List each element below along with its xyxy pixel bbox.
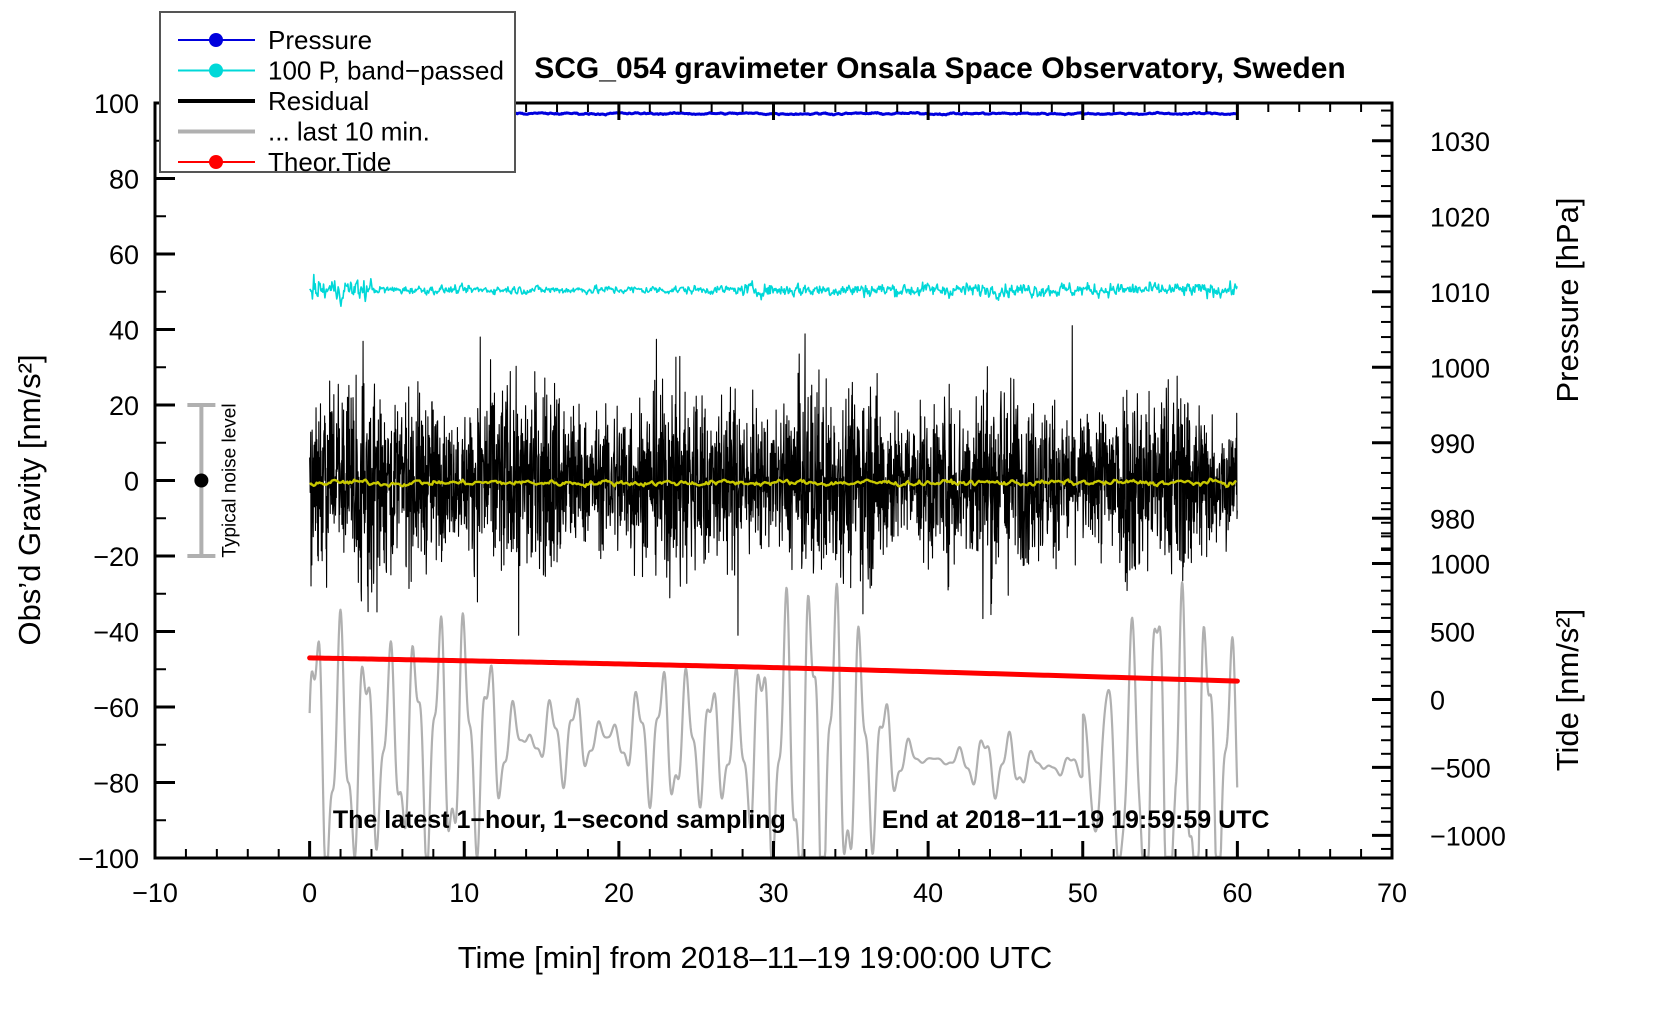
y-tick-label: 20 — [109, 391, 139, 421]
right-axis-pressure-title: Pressure [hPa] — [1550, 197, 1585, 402]
tide-tick-label: 0 — [1430, 685, 1445, 715]
tide-tick-label: 1000 — [1430, 550, 1490, 580]
pressure-tick-label: 980 — [1430, 504, 1475, 534]
chart-stage: −10010203040506070−100−80−60−40−20020406… — [0, 0, 1660, 1020]
y-tick-label: 60 — [109, 240, 139, 270]
x-tick-label: 10 — [449, 878, 479, 908]
pressure-tick-label: 990 — [1430, 429, 1475, 459]
right-axis-tide-title: Tide [nm/s²] — [1550, 609, 1585, 772]
legend-swatch-marker — [209, 33, 223, 47]
x-tick-label: 50 — [1068, 878, 1098, 908]
x-tick-label: −10 — [132, 878, 178, 908]
tide-tick-label: −500 — [1430, 753, 1491, 783]
x-tick-label: 20 — [604, 878, 634, 908]
y-tick-label: −80 — [93, 769, 139, 799]
end-time-note: End at 2018−11−19 19:59:59 UTC — [882, 806, 1270, 834]
x-tick-label: 30 — [758, 878, 788, 908]
legend-swatch-marker — [209, 64, 223, 78]
pressure-tick-label: 1010 — [1430, 278, 1490, 308]
x-tick-label: 40 — [913, 878, 943, 908]
x-tick-label: 0 — [302, 878, 317, 908]
y-tick-label: −60 — [93, 693, 139, 723]
errorbar-center-dot — [194, 474, 208, 488]
legend-label: Theor.Tide — [268, 147, 391, 177]
tide-tick-label: −1000 — [1430, 821, 1506, 851]
legend-label: Residual — [268, 86, 369, 116]
y-axis-title: Obs’d Gravity [nm/s²] — [12, 354, 47, 645]
x-axis-title: Time [min] from 2018–11–19 19:00:00 UTC — [458, 940, 1052, 975]
tide-tick-label: 500 — [1430, 618, 1475, 648]
x-tick-label: 70 — [1377, 878, 1407, 908]
noise-level-label: Typical noise level — [219, 403, 240, 557]
y-tick-label: 40 — [109, 316, 139, 346]
pressure-tick-label: 1030 — [1430, 127, 1490, 157]
legend-label: 100 P, band−passed — [268, 56, 504, 86]
y-tick-label: −40 — [93, 618, 139, 648]
legend-label: Pressure — [268, 25, 372, 55]
gravimeter-chart: −10010203040506070−100−80−60−40−20020406… — [0, 0, 1660, 1020]
y-tick-label: −100 — [78, 844, 139, 874]
chart-legend: Pressure100 P, band−passedResidual... la… — [160, 12, 515, 177]
sampling-note: The latest 1−hour, 1−second sampling — [333, 806, 786, 834]
y-tick-label: 100 — [94, 89, 139, 119]
y-tick-label: 80 — [109, 165, 139, 195]
legend-swatch-marker — [209, 155, 223, 169]
pressure-tick-label: 1000 — [1430, 353, 1490, 383]
pressure-tick-label: 1020 — [1430, 202, 1490, 232]
chart-title: SCG_054 gravimeter Onsala Space Observat… — [534, 52, 1346, 85]
y-tick-label: 0 — [124, 467, 139, 497]
y-tick-label: −20 — [93, 542, 139, 572]
x-tick-label: 60 — [1222, 878, 1252, 908]
legend-label: ... last 10 min. — [268, 117, 430, 147]
